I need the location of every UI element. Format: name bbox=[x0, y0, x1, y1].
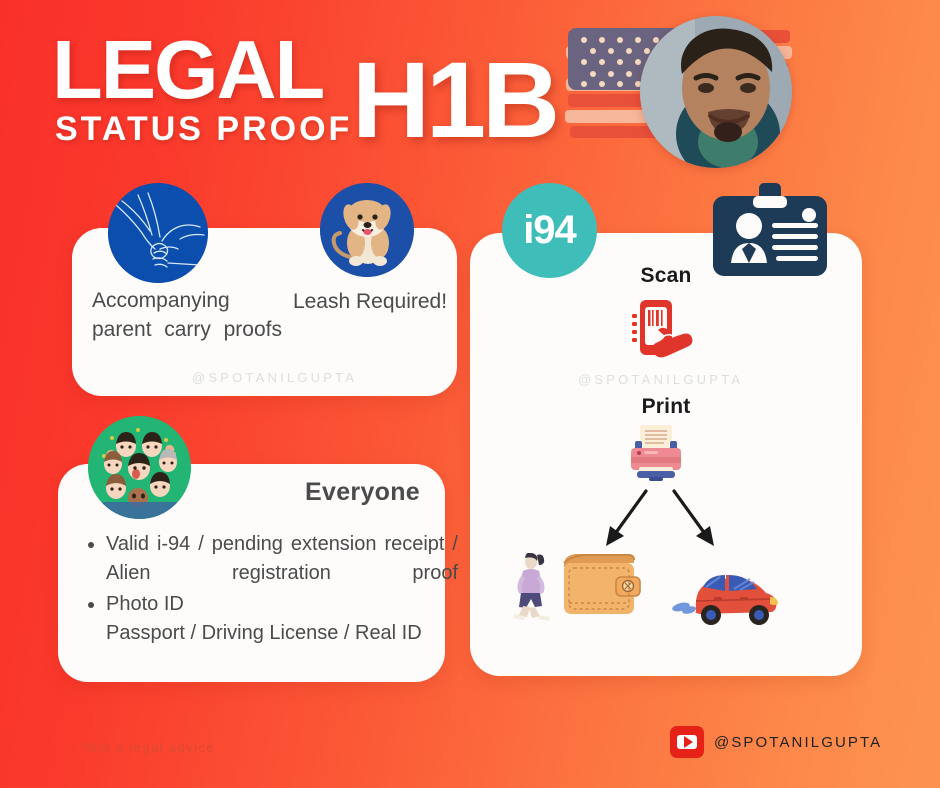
youtube-icon[interactable] bbox=[670, 726, 704, 758]
list-item-subtext: Passport / Driving License / Real ID bbox=[106, 619, 458, 648]
play-triangle-icon bbox=[684, 736, 693, 748]
everyone-list: Valid i-94 / pending extension receipt /… bbox=[84, 530, 458, 650]
id-card-icon bbox=[709, 183, 831, 276]
header: LEGAL STATUS PROOF H1B bbox=[0, 0, 940, 175]
everyone-title: Everyone bbox=[60, 478, 420, 507]
watermark-card-i94: @SPOTANILGUPTA bbox=[578, 372, 743, 387]
disclaimer-text: *Not a legal advice bbox=[80, 740, 215, 755]
printer-icon bbox=[626, 424, 686, 482]
dog-icon bbox=[320, 183, 414, 277]
title-legal: LEGAL bbox=[52, 28, 323, 111]
title-h1b: H1B bbox=[352, 46, 556, 154]
list-item-text: Photo ID bbox=[106, 593, 184, 615]
avatar bbox=[640, 16, 792, 168]
two-arrows-icon bbox=[590, 488, 740, 553]
car-icon bbox=[670, 565, 790, 625]
print-label: Print bbox=[470, 395, 862, 419]
watermark-card-parents: @SPOTANILGUPTA bbox=[192, 370, 357, 385]
parents-card-text: Accompanying parent carry proofs bbox=[92, 286, 282, 344]
youtube-handle-block[interactable]: @SPOTANILGUPTA bbox=[670, 726, 882, 758]
list-item-text: Valid i-94 / pending extension receipt /… bbox=[106, 530, 458, 588]
phone-scan-icon bbox=[628, 298, 694, 360]
i94-badge-label: i94 bbox=[523, 208, 576, 253]
walking-person-icon bbox=[512, 553, 552, 621]
holding-hands-icon bbox=[108, 183, 208, 283]
youtube-handle-text: @SPOTANILGUPTA bbox=[714, 734, 882, 751]
wallet-icon bbox=[558, 551, 644, 618]
page-title: LEGAL STATUS PROOF H1B bbox=[52, 28, 552, 148]
list-item: Valid i-94 / pending extension receipt /… bbox=[106, 530, 458, 588]
infographic-canvas: LEGAL STATUS PROOF H1B bbox=[0, 0, 940, 788]
youtube-icon-inner bbox=[677, 735, 697, 749]
title-status-proof: STATUS PROOF bbox=[55, 112, 352, 146]
list-item: Photo ID Passport / Driving License / Re… bbox=[106, 590, 458, 648]
scan-label: Scan bbox=[470, 264, 862, 288]
leash-required-text: Leash Required! bbox=[280, 290, 460, 314]
